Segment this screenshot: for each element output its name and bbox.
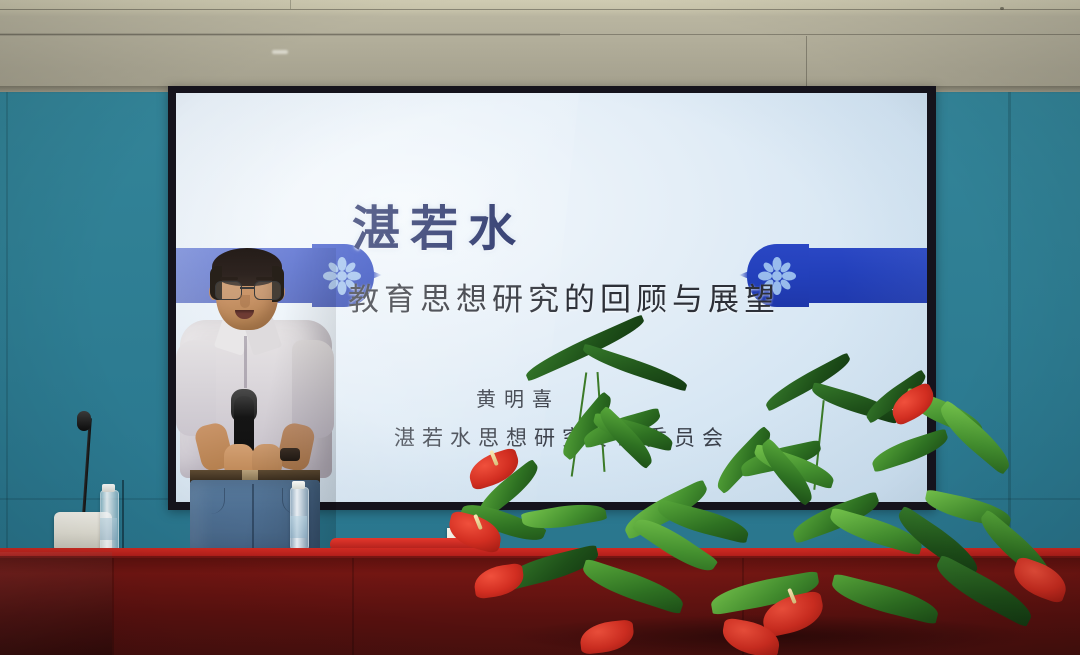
lecture-photo-frame: 湛若水 教育思想研究的回顾与展望 黄明喜 湛若水思想研究专业委员会 bbox=[0, 0, 1080, 655]
plant-leaf bbox=[869, 428, 952, 473]
ceiling-panel-seam-secondary bbox=[290, 0, 291, 9]
speaker-shirt-placket bbox=[244, 336, 247, 388]
ceiling-panel-seam bbox=[806, 36, 807, 92]
microphone-cable bbox=[122, 480, 124, 550]
eyeglass-lens-right bbox=[254, 281, 281, 300]
anthurium-flower bbox=[1008, 555, 1072, 604]
speaker-figure bbox=[176, 248, 336, 558]
slide-accent-bar-right bbox=[805, 248, 927, 303]
water-bottle-cap bbox=[292, 481, 305, 489]
speaker-eyebrow-left bbox=[220, 277, 238, 280]
anthurium-flower bbox=[472, 563, 526, 600]
foreground-potted-plants bbox=[430, 330, 1080, 655]
slide-title: 湛若水 bbox=[352, 189, 526, 259]
eyeglass-bridge bbox=[240, 287, 254, 289]
ceiling-groove-upper bbox=[0, 9, 1080, 10]
trousers-seam bbox=[252, 484, 254, 558]
eyeglass-lens-left bbox=[215, 281, 242, 300]
ceiling-bulkhead bbox=[0, 0, 1080, 92]
speaker-eyebrow-right bbox=[256, 277, 274, 280]
slide-subtitle: 教育思想研究的回顾与展望 bbox=[348, 274, 780, 319]
plant-leaf bbox=[579, 558, 688, 615]
ceiling-groove-lower bbox=[0, 34, 1080, 35]
wrist-watch-icon bbox=[280, 448, 300, 461]
speaker-nose bbox=[240, 295, 250, 308]
gooseneck-microphone-head bbox=[77, 411, 91, 431]
ceiling-fixture-dot bbox=[1000, 7, 1004, 10]
water-bottle-label bbox=[290, 516, 307, 538]
water-bottle-cap bbox=[102, 484, 115, 492]
speaker-sleeve-left bbox=[176, 340, 216, 436]
ceiling-light-glint bbox=[272, 50, 288, 54]
water-bottle-label bbox=[100, 518, 117, 540]
